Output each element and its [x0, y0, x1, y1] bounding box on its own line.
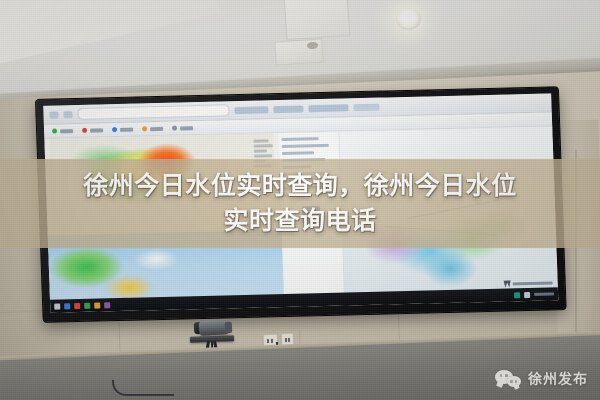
- browser-bookmark-3[interactable]: [308, 104, 348, 112]
- toolbar-item-2[interactable]: [82, 127, 103, 133]
- floor-cable: [112, 380, 174, 396]
- browser-forward-icon[interactable]: [63, 111, 72, 118]
- list-item[interactable]: [281, 137, 319, 141]
- page-title-line-2: 实时查询电话: [223, 205, 376, 238]
- wechat-eye: [510, 380, 513, 383]
- toolbar-item-5[interactable]: [172, 125, 193, 131]
- legend-row: [253, 139, 268, 142]
- taskbar-clock[interactable]: [534, 292, 554, 295]
- warn-dot-icon: [142, 126, 147, 131]
- outlet-slot: [271, 339, 273, 343]
- toolbar-label-4: [150, 126, 163, 130]
- toolbar-label-5: [180, 126, 193, 130]
- legend-row: [254, 149, 267, 152]
- browser-bookmark-4[interactable]: [353, 103, 379, 111]
- toolbar-item-3[interactable]: [112, 127, 133, 133]
- ceiling-air-vent: [284, 0, 351, 40]
- info-dot-icon: [112, 127, 117, 132]
- tray-icon[interactable]: [524, 291, 530, 297]
- wechat-eye: [515, 380, 518, 383]
- taskbar-app-icon[interactable]: [104, 302, 110, 308]
- wechat-eye: [505, 374, 508, 377]
- record-dot-icon: [82, 128, 87, 133]
- watermark-label: 徐州发布: [528, 369, 588, 389]
- screenshot-root: 徐州今日水位实时查询，徐州今日水位 实时查询电话 徐州发布: [0, 0, 600, 400]
- taskbar-app-icon[interactable]: [74, 302, 80, 308]
- wechat-eye: [500, 374, 503, 377]
- outlet-slot: [267, 339, 269, 343]
- legend-row: [253, 144, 273, 147]
- browser-back-icon[interactable]: [49, 111, 58, 118]
- toolbar-label-2: [90, 128, 103, 132]
- video-camera-viewfinder: [225, 322, 233, 333]
- browser-address-field[interactable]: [77, 104, 229, 120]
- tray-icon[interactable]: [514, 292, 520, 298]
- page-title-line-1: 徐州今日水位实时查询，徐州今日水位: [83, 170, 517, 203]
- list-item[interactable]: [282, 151, 314, 155]
- wechat-icon: [495, 369, 521, 389]
- toolbar-item-1[interactable]: [52, 128, 73, 134]
- title-overlay: 徐州今日水位实时查询，徐州今日水位 实时查询电话: [0, 159, 600, 248]
- taskbar-app-icon[interactable]: [64, 303, 70, 309]
- map-attribution-text: [513, 281, 553, 285]
- toolbar-label-3: [120, 127, 133, 131]
- list-item[interactable]: [281, 144, 329, 148]
- status-dot-icon: [52, 128, 57, 133]
- toolbar-label-1: [60, 129, 73, 133]
- toolbar-item-4[interactable]: [142, 126, 163, 132]
- browser-bookmark-1[interactable]: [234, 106, 268, 114]
- taskbar-app-icon[interactable]: [94, 302, 100, 308]
- watermark: 徐州发布: [495, 369, 588, 389]
- map-attribution: [504, 279, 553, 287]
- legend-row: [254, 154, 273, 157]
- browser-bookmark-2[interactable]: [273, 105, 303, 113]
- taskbar-app-icon[interactable]: [84, 302, 90, 308]
- gear-icon: [172, 126, 177, 131]
- start-icon[interactable]: [54, 303, 60, 309]
- ceiling-spotlight-core: [403, 13, 415, 23]
- map-logo-icon: [504, 280, 511, 287]
